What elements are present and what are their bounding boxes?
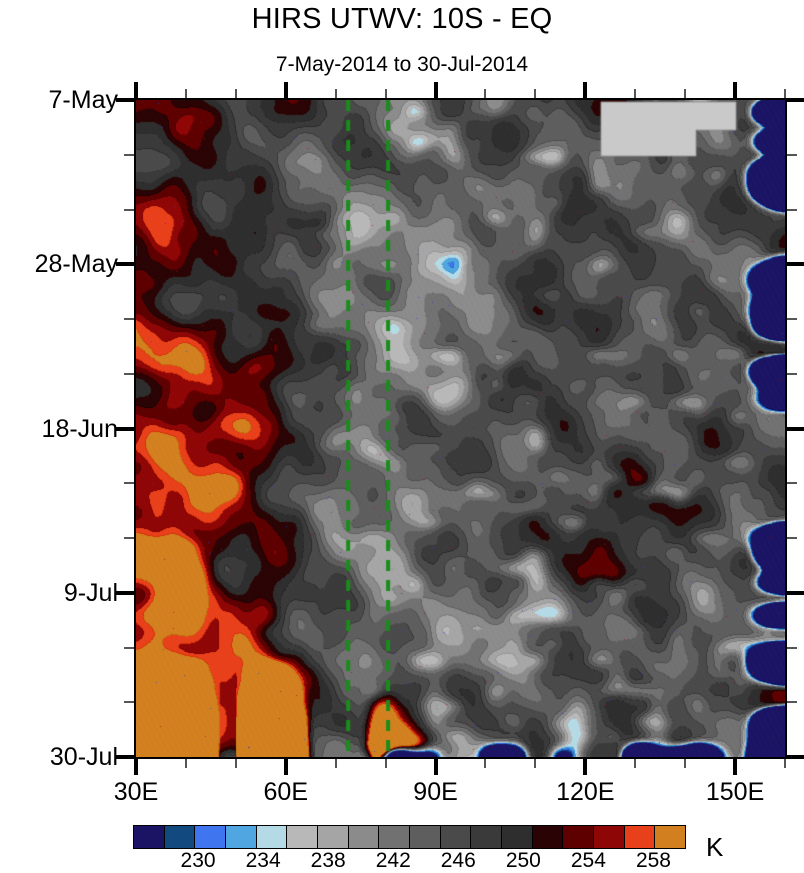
y-axis-minor-tick-right <box>787 154 797 156</box>
colorbar-segment <box>470 826 501 848</box>
hovmoller-plot-area <box>136 100 785 757</box>
x-axis-major-tick <box>434 759 438 775</box>
colorbar-segment <box>654 826 685 848</box>
colorbar-tick-label: 246 <box>441 849 476 873</box>
y-axis-minor-tick-right <box>787 373 797 375</box>
colorbar-units-label: K <box>706 832 723 862</box>
hovmoller-canvas <box>136 100 785 757</box>
x-axis-major-tick-top <box>733 82 737 98</box>
x-axis-minor-tick-top <box>684 89 686 98</box>
x-axis-tick-label: 150E <box>706 778 764 806</box>
x-axis-tick-label: 90E <box>413 778 457 806</box>
colorbar-segment <box>348 826 379 848</box>
y-axis-minor-tick-right <box>787 701 797 703</box>
y-axis-major-tick <box>116 427 134 431</box>
colorbar-segment <box>286 826 317 848</box>
x-axis-major-tick-top <box>434 82 438 98</box>
y-axis-minor-tick <box>124 154 134 156</box>
y-axis-minor-tick <box>124 647 134 649</box>
y-axis-minor-tick <box>124 701 134 703</box>
y-axis-tick-label: 7-May <box>49 86 118 114</box>
y-axis-major-tick-right <box>787 427 804 431</box>
chart-subtitle: 7-May-2014 to 30-Jul-2014 <box>0 52 804 78</box>
y-axis-minor-tick <box>124 373 134 375</box>
y-axis-minor-tick-right <box>787 537 797 539</box>
y-axis-tick-label: 18-Jun <box>42 415 118 443</box>
x-axis-major-tick-top <box>583 82 587 98</box>
y-axis-major-tick-right <box>787 755 804 759</box>
y-axis-major-tick-right <box>787 591 804 595</box>
colorbar-tick-label: 250 <box>506 849 541 873</box>
x-axis-major-tick <box>134 759 138 775</box>
x-axis-major-tick <box>733 759 737 775</box>
y-axis-minor-tick-right <box>787 482 797 484</box>
x-axis-minor-tick <box>385 759 387 768</box>
x-axis-major-tick-top <box>134 82 138 98</box>
colorbar-segment <box>409 826 440 848</box>
y-axis-minor-tick-right <box>787 318 797 320</box>
x-axis-minor-tick-top <box>484 89 486 98</box>
colorbar-segment <box>225 826 256 848</box>
y-axis-tick-label: 30-Jul <box>50 743 118 771</box>
x-axis-minor-tick-top <box>385 89 387 98</box>
page-title: HIRS UTWV: 10S - EQ <box>0 2 804 36</box>
colorbar-tick-label: 254 <box>571 849 606 873</box>
x-axis-major-tick <box>284 759 288 775</box>
x-axis-tick-label: 30E <box>114 778 158 806</box>
x-axis-minor-tick <box>634 759 636 768</box>
colorbar-segment <box>532 826 563 848</box>
y-axis-minor-tick <box>124 537 134 539</box>
colorbar-segment <box>562 826 593 848</box>
y-axis-major-tick <box>116 262 134 266</box>
y-axis-minor-tick <box>124 482 134 484</box>
colorbar-segment <box>194 826 225 848</box>
x-axis-major-tick-top <box>284 82 288 98</box>
x-axis-minor-tick <box>784 759 786 768</box>
colorbar-segment <box>256 826 287 848</box>
y-axis-major-tick <box>116 591 134 595</box>
y-axis-major-tick <box>116 98 134 102</box>
colorbar-tick-label: 242 <box>376 849 411 873</box>
colorbar-segment <box>164 826 195 848</box>
x-axis-minor-tick <box>484 759 486 768</box>
x-axis-minor-tick-top <box>784 89 786 98</box>
x-axis-minor-tick <box>534 759 536 768</box>
x-axis-minor-tick-top <box>634 89 636 98</box>
colorbar-tick-label: 234 <box>246 849 281 873</box>
y-axis-labels: 7-May28-May18-Jun9-Jul30-Jul <box>0 0 118 869</box>
y-axis-major-tick-right <box>787 262 804 266</box>
colorbar-segment <box>501 826 532 848</box>
colorbar-segment <box>440 826 471 848</box>
colorbar-tick-label: 258 <box>636 849 671 873</box>
y-axis-minor-tick-right <box>787 647 797 649</box>
colorbar-swatches <box>133 825 686 849</box>
x-axis-minor-tick-top <box>185 89 187 98</box>
x-axis-minor-tick-top <box>335 89 337 98</box>
colorbar-segment <box>317 826 348 848</box>
y-axis-minor-tick <box>124 318 134 320</box>
x-axis-minor-tick <box>185 759 187 768</box>
y-axis-tick-label: 9-Jul <box>64 579 118 607</box>
colorbar-segment <box>134 826 164 848</box>
colorbar-segment <box>624 826 655 848</box>
colorbar-tick-label: 238 <box>311 849 346 873</box>
colorbar-tick-label: 230 <box>181 849 216 873</box>
colorbar <box>133 825 686 849</box>
x-axis-tick-label: 60E <box>264 778 308 806</box>
y-axis-major-tick-right <box>787 98 804 102</box>
x-axis-major-tick <box>583 759 587 775</box>
x-axis-minor-tick-top <box>235 89 237 98</box>
y-axis-minor-tick <box>124 209 134 211</box>
y-axis-tick-label: 28-May <box>35 250 118 278</box>
y-axis-minor-tick-right <box>787 209 797 211</box>
colorbar-segment <box>593 826 624 848</box>
x-axis-minor-tick-top <box>534 89 536 98</box>
x-axis-minor-tick <box>335 759 337 768</box>
x-axis-tick-label: 120E <box>556 778 614 806</box>
x-axis-minor-tick <box>684 759 686 768</box>
y-axis-major-tick <box>116 755 134 759</box>
x-axis-minor-tick <box>235 759 237 768</box>
colorbar-segment <box>378 826 409 848</box>
